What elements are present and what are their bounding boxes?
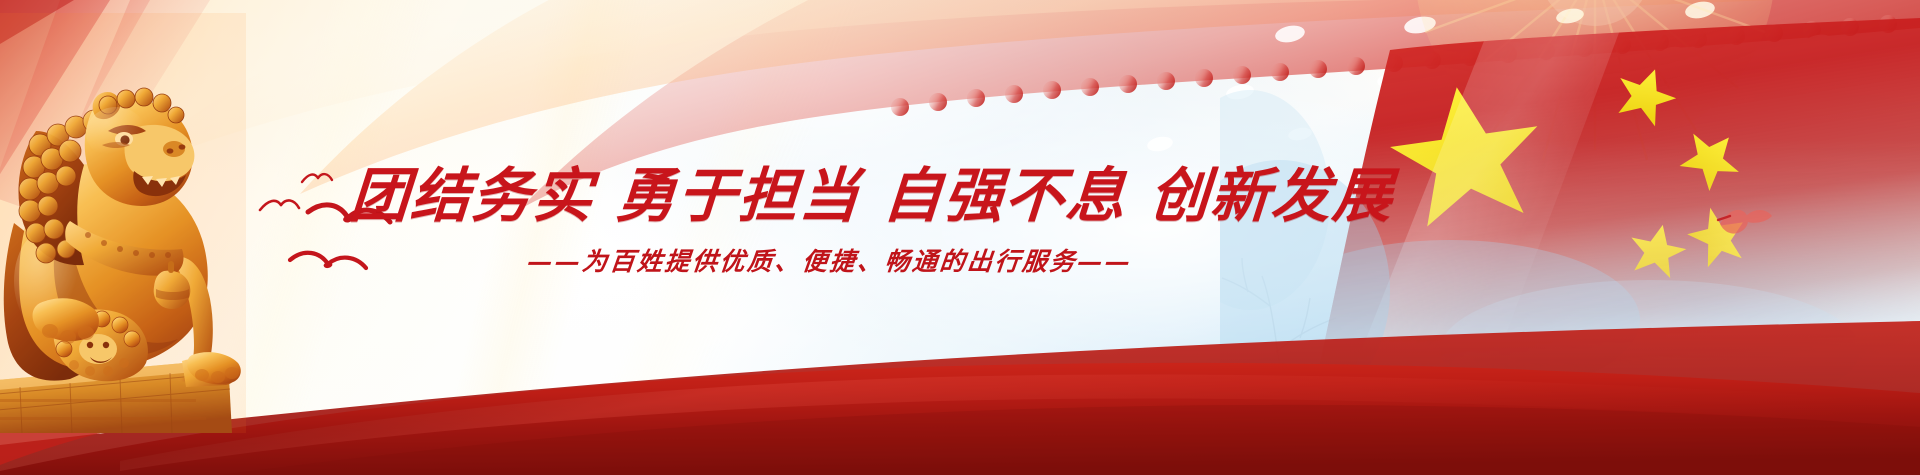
dove-icon <box>302 174 332 182</box>
banner-root: 团结务实 勇于担当 自强不息 创新发展 ——为百姓提供优质、便捷、畅通的出行服务… <box>0 0 1920 475</box>
guardian-lion-statue <box>0 13 246 433</box>
dove-icon <box>260 200 299 210</box>
slogan-subtitle: ——为百姓提供优质、便捷、畅通的出行服务—— <box>348 242 1312 278</box>
red-wave-foreground <box>0 275 1920 475</box>
dove-on-flag-icon <box>1714 196 1774 242</box>
main-slogan: 团结务实 勇于担当 自强不息 创新发展 <box>348 166 1312 225</box>
slogan-block: 团结务实 勇于担当 自强不息 创新发展 ——为百姓提供优质、便捷、畅通的出行服务… <box>350 166 1310 278</box>
